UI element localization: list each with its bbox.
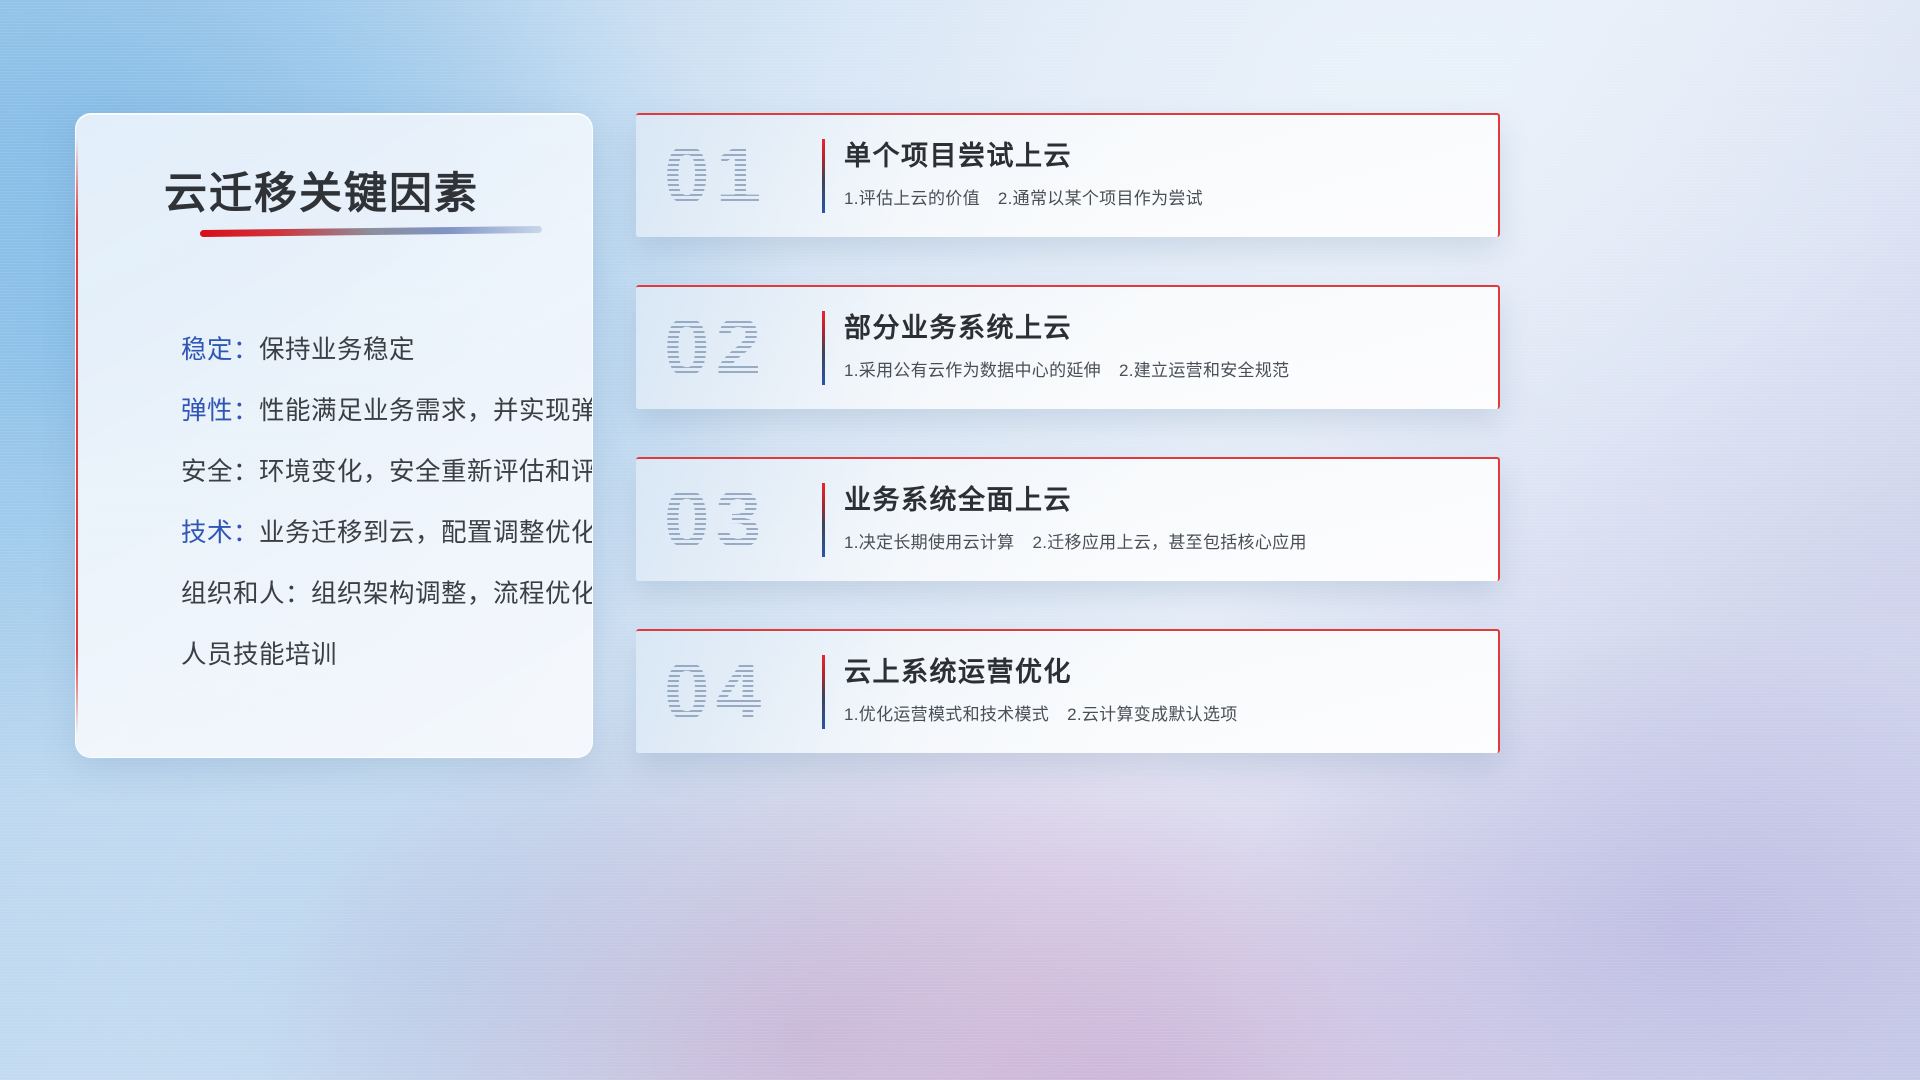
card-description-item: 2.迁移应用上云，甚至包括核心应用 <box>1032 533 1306 552</box>
list-item: 稳定：保持业务稳定 <box>181 320 566 381</box>
factor-label: 弹性： <box>181 397 259 425</box>
stage-card[interactable]: 04 云上系统运营优化 1.优化运营模式和技术模式2.云计算变成默认选项 <box>636 629 1500 753</box>
card-description: 1.决定长期使用云计算2.迁移应用上云，甚至包括核心应用 <box>844 528 1478 553</box>
stage-card[interactable]: 01 单个项目尝试上云 1.评估上云的价值2.通常以某个项目作为尝试 <box>636 113 1500 237</box>
factor-label: 稳定： <box>181 336 259 364</box>
card-divider <box>822 483 825 557</box>
card-description-item: 1.决定长期使用云计算 <box>844 533 1014 552</box>
card-description-item: 2.云计算变成默认选项 <box>1067 705 1237 724</box>
stage-number: 02 <box>664 301 767 395</box>
card-divider <box>822 655 825 729</box>
card-divider <box>822 311 825 385</box>
stage-card[interactable]: 02 部分业务系统上云 1.采用公有云作为数据中心的延伸2.建立运营和安全规范 <box>636 285 1500 409</box>
card-description-item: 1.优化运营模式和技术模式 <box>844 705 1049 724</box>
factor-text: 组织架构调整，流程优化， <box>311 580 593 608</box>
factor-label: 技术： <box>181 519 259 547</box>
list-item: 安全：环境变化，安全重新评估和评审 <box>181 442 566 503</box>
factor-text: 性能满足业务需求，并实现弹性 <box>259 397 593 425</box>
factor-text: 环境变化，安全重新评估和评审 <box>259 458 593 486</box>
card-title: 单个项目尝试上云 <box>844 137 1478 175</box>
card-description-item: 1.评估上云的价值 <box>844 189 980 208</box>
list-item: 组织和人：组织架构调整，流程优化， <box>181 564 566 625</box>
stage-number: 04 <box>664 645 767 739</box>
card-description: 1.评估上云的价值2.通常以某个项目作为尝试 <box>844 184 1478 209</box>
card-description: 1.采用公有云作为数据中心的延伸2.建立运营和安全规范 <box>844 356 1478 381</box>
factor-text: 保持业务稳定 <box>259 336 415 364</box>
card-description: 1.优化运营模式和技术模式2.云计算变成默认选项 <box>844 700 1478 725</box>
stage-card[interactable]: 03 业务系统全面上云 1.决定长期使用云计算2.迁移应用上云，甚至包括核心应用 <box>636 457 1500 581</box>
card-divider <box>822 139 825 213</box>
stage-number: 03 <box>664 473 767 567</box>
card-title: 云上系统运营优化 <box>844 653 1478 691</box>
card-description-item: 1.采用公有云作为数据中心的延伸 <box>844 361 1101 380</box>
card-body: 云上系统运营优化 1.优化运营模式和技术模式2.云计算变成默认选项 <box>844 653 1478 725</box>
card-body: 部分业务系统上云 1.采用公有云作为数据中心的延伸2.建立运营和安全规范 <box>844 309 1478 381</box>
card-title: 部分业务系统上云 <box>844 309 1478 347</box>
factor-label: 安全： <box>181 458 259 486</box>
factor-text: 业务迁移到云，配置调整优化 <box>259 519 593 547</box>
card-body: 单个项目尝试上云 1.评估上云的价值2.通常以某个项目作为尝试 <box>844 137 1478 209</box>
factor-text: 人员技能培训 <box>181 641 337 669</box>
stage-number: 01 <box>664 129 767 223</box>
list-item: 技术：业务迁移到云，配置调整优化 <box>181 503 566 564</box>
key-factors-panel: 云迁移关键因素 稳定：保持业务稳定 弹性：性能满足业务需求，并实现弹性 安全：环… <box>75 113 593 758</box>
card-title: 业务系统全面上云 <box>844 481 1478 519</box>
card-body: 业务系统全面上云 1.决定长期使用云计算2.迁移应用上云，甚至包括核心应用 <box>844 481 1478 553</box>
card-description-item: 2.建立运营和安全规范 <box>1119 361 1289 380</box>
title-underline-rule <box>200 226 542 237</box>
factor-label: 组织和人： <box>181 580 311 608</box>
key-factors-list: 稳定：保持业务稳定 弹性：性能满足业务需求，并实现弹性 安全：环境变化，安全重新… <box>181 320 566 686</box>
card-description-item: 2.通常以某个项目作为尝试 <box>998 189 1203 208</box>
list-item: 人员技能培训 <box>181 625 566 686</box>
page-title: 云迁移关键因素 <box>164 159 479 221</box>
slide-stage: 云迁移关键因素 稳定：保持业务稳定 弹性：性能满足业务需求，并实现弹性 安全：环… <box>0 0 1920 1080</box>
list-item: 弹性：性能满足业务需求，并实现弹性 <box>181 381 566 442</box>
